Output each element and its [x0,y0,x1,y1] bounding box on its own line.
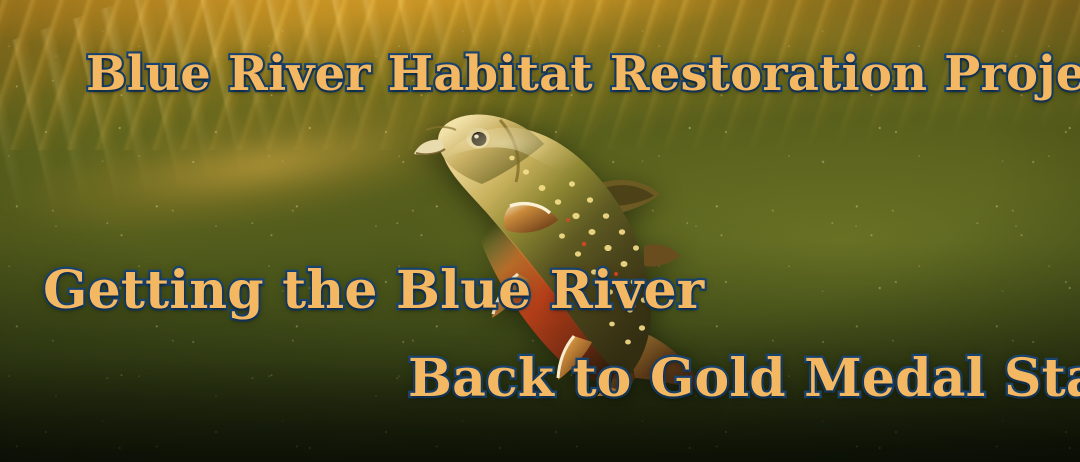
banner-title: Blue River Habitat Restoration Project [86,47,1080,101]
banner-subtitle-line-1: Getting the Blue River [43,262,704,320]
banner-subtitle-line-2: Back to Gold Medal Status! [408,350,1080,408]
hero-banner: Blue River Habitat Restoration Project G… [0,0,1080,462]
